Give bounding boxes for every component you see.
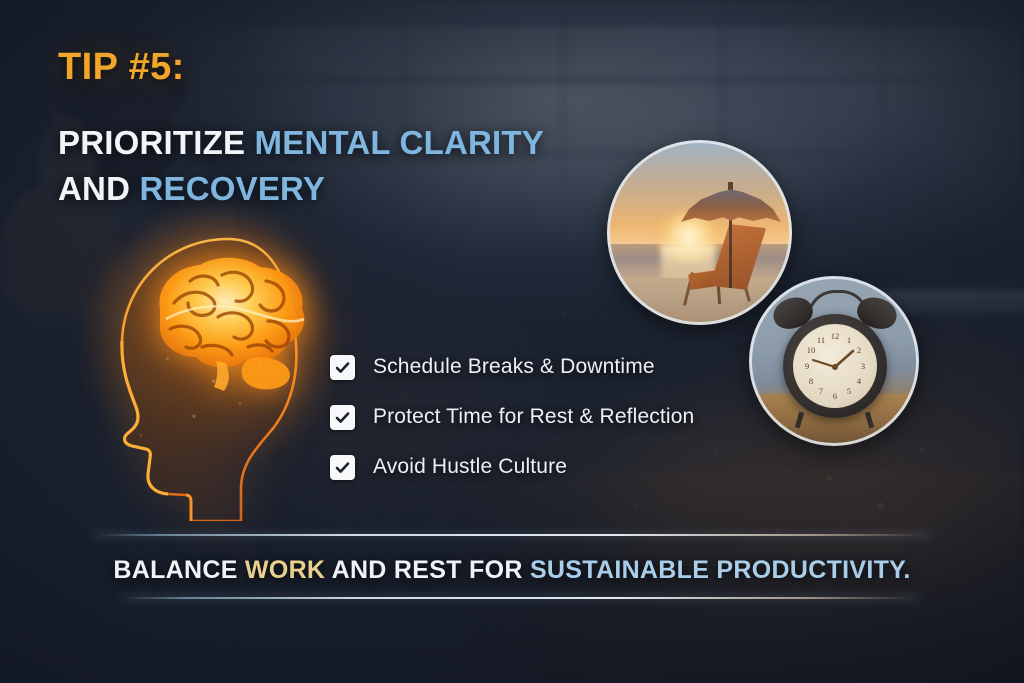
list-item-label: Schedule Breaks & Downtime (373, 355, 655, 379)
tagline: BALANCE WORK AND REST FOR SUSTAINABLE PR… (0, 556, 1024, 585)
divider-bottom (120, 597, 920, 599)
svg-text:5: 5 (847, 386, 851, 396)
tip-label: TIP #5: (58, 46, 185, 89)
check-icon[interactable] (330, 355, 355, 380)
svg-text:11: 11 (817, 335, 825, 345)
svg-text:8: 8 (809, 376, 813, 386)
list-item[interactable]: Schedule Breaks & Downtime (330, 342, 750, 392)
svg-text:6: 6 (833, 391, 837, 401)
divider-top (92, 534, 932, 536)
check-icon[interactable] (330, 405, 355, 430)
svg-text:10: 10 (807, 345, 816, 355)
tagline-part1: BALANCE (113, 556, 245, 584)
page-title: PRIORITIZE MENTAL CLARITY AND RECOVERY (58, 120, 544, 212)
list-item-label: Protect Time for Rest & Reflection (373, 405, 694, 429)
svg-text:3: 3 (861, 361, 865, 371)
headline-line2-accent: RECOVERY (139, 170, 325, 207)
clock-body: 12 1 2 3 4 5 6 7 8 9 10 11 (783, 314, 887, 418)
svg-text:4: 4 (857, 376, 862, 386)
headline-line1-accent: MENTAL CLARITY (255, 124, 544, 161)
checklist: Schedule Breaks & Downtime Protect Time … (330, 342, 750, 492)
svg-text:2: 2 (857, 345, 861, 355)
list-item[interactable]: Avoid Hustle Culture (330, 442, 750, 492)
clock-dial-icon: 12 1 2 3 4 5 6 7 8 9 10 11 (793, 324, 877, 408)
tip-slide: TIP #5: PRIORITIZE MENTAL CLARITY AND RE… (0, 0, 1024, 683)
check-icon[interactable] (330, 455, 355, 480)
tagline-part2: AND REST FOR (325, 556, 530, 584)
headline-line2-plain: AND (58, 170, 139, 207)
brain-particles (42, 205, 372, 525)
alarm-clock-photo: 12 1 2 3 4 5 6 7 8 9 10 11 (749, 276, 919, 446)
tagline-gold: WORK (245, 556, 325, 584)
svg-text:1: 1 (847, 335, 851, 345)
tagline-blue: SUSTAINABLE PRODUCTIVITY. (530, 556, 911, 584)
list-item[interactable]: Protect Time for Rest & Reflection (330, 392, 750, 442)
list-item-label: Avoid Hustle Culture (373, 455, 567, 479)
svg-text:7: 7 (819, 386, 823, 396)
svg-text:12: 12 (831, 331, 840, 341)
glowing-brain-head-icon (42, 205, 372, 525)
svg-text:9: 9 (805, 361, 809, 371)
headline-line1-plain: PRIORITIZE (58, 124, 255, 161)
clock-face: 12 1 2 3 4 5 6 7 8 9 10 11 (793, 324, 877, 408)
